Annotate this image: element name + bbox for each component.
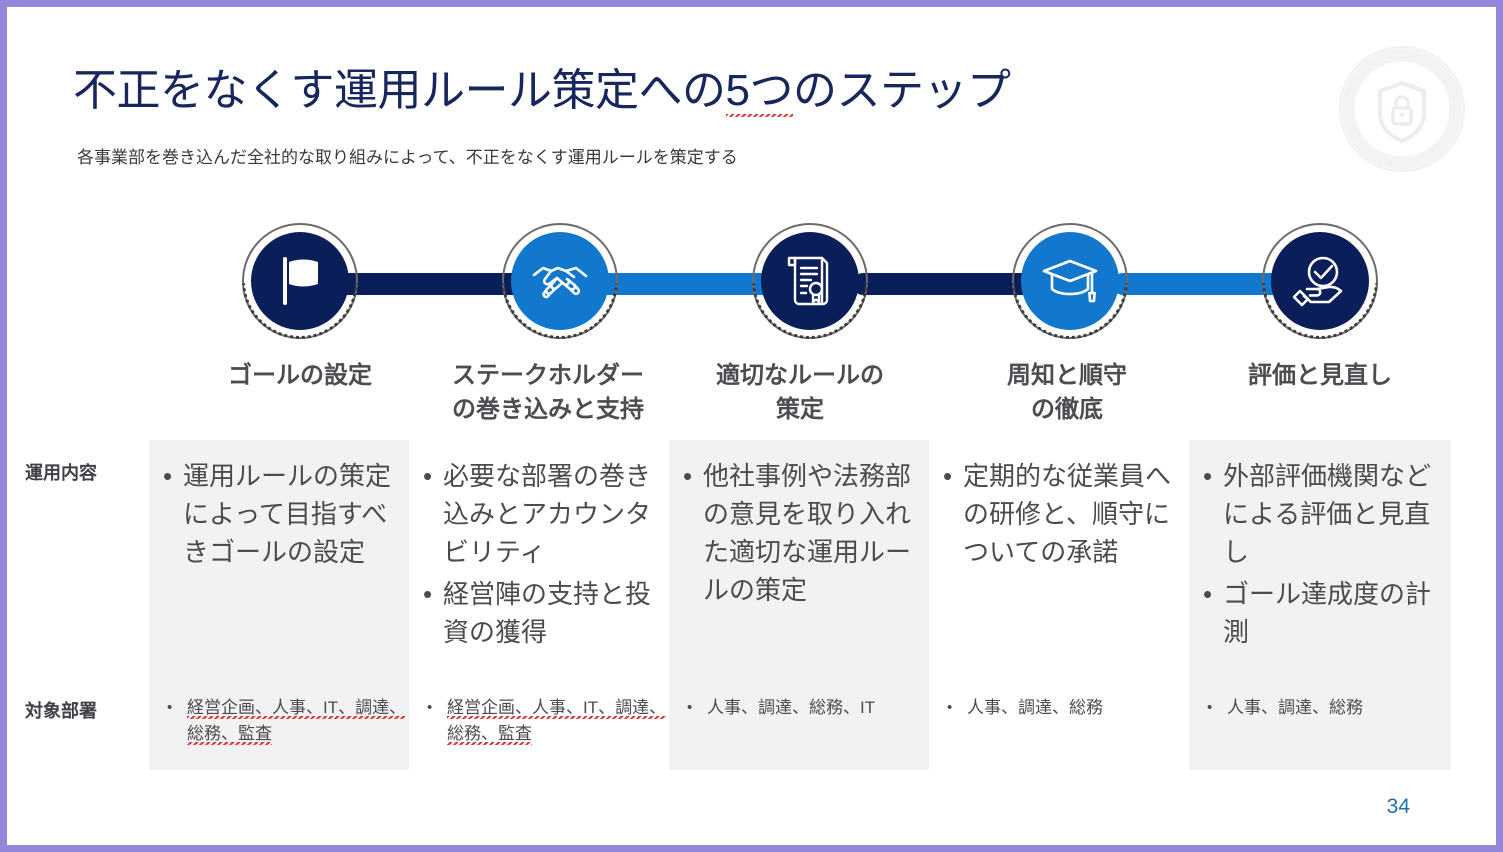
cell-bullet-list: 他社事例や法務部の意見を取り入れた適切な運用ルールの策定 (677, 457, 927, 609)
row-label-content: 運用内容 (25, 459, 143, 485)
content-table: 運用内容 対象部署 運用ルールの策定によって目指すべきゴールの設定 必要な部署の… (7, 7, 1503, 852)
table-cell-r1c1: 運用ルールの策定によって目指すべきゴールの設定 (157, 457, 407, 575)
list-item: 人事、調達、総務、IT (681, 695, 927, 721)
table-cell-r2c2: 経営企画、人事、IT、調達、総務、監査 (421, 695, 667, 747)
list-item: 必要な部署の巻き込みとアカウンタビリティ (417, 457, 667, 571)
table-cell-r1c2: 必要な部署の巻き込みとアカウンタビリティ 経営陣の支持と投資の獲得 (417, 457, 667, 655)
list-item: 人事、調達、総務 (941, 695, 1187, 721)
cell-bullet-list: 人事、調達、総務 (941, 695, 1187, 721)
cell-bullet-list: 人事、調達、総務、IT (681, 695, 927, 721)
cell-bullet-list: 必要な部署の巻き込みとアカウンタビリティ 経営陣の支持と投資の獲得 (417, 457, 667, 651)
table-cell-r1c5: 外部評価機関などによる評価と見直し ゴール達成度の計測 (1197, 457, 1449, 655)
list-item: 運用ルールの策定によって目指すべきゴールの設定 (157, 457, 407, 571)
slide-canvas: 不正をなくす運用ルール策定への5つのステップ 各事業部を巻き込んだ全社的な取り組… (0, 0, 1503, 852)
list-item: 外部評価機関などによる評価と見直し (1197, 457, 1449, 571)
row-label-departments: 対象部署 (25, 697, 143, 723)
cell-bullet-list: 経営企画、人事、IT、調達、総務、監査 (161, 695, 407, 747)
list-item-text: 経営企画、人事、IT、調達、総務、監査 (187, 698, 406, 745)
list-item: 経営企画、人事、IT、調達、総務、監査 (161, 695, 407, 747)
table-cell-r2c4: 人事、調達、総務 (941, 695, 1187, 721)
table-cell-r2c1: 経営企画、人事、IT、調達、総務、監査 (161, 695, 407, 747)
table-cell-r2c3: 人事、調達、総務、IT (681, 695, 927, 721)
cell-bullet-list: 外部評価機関などによる評価と見直し ゴール達成度の計測 (1197, 457, 1449, 651)
table-cell-r1c3: 他社事例や法務部の意見を取り入れた適切な運用ルールの策定 (677, 457, 927, 613)
list-item: ゴール達成度の計測 (1197, 575, 1449, 651)
page-number: 34 (1387, 795, 1410, 819)
cell-bullet-list: 人事、調達、総務 (1201, 695, 1449, 721)
table-cell-r2c5: 人事、調達、総務 (1201, 695, 1449, 721)
list-item: 経営陣の支持と投資の獲得 (417, 575, 667, 651)
cell-bullet-list: 運用ルールの策定によって目指すべきゴールの設定 (157, 457, 407, 571)
list-item: 定期的な従業員への研修と、順守についての承諾 (937, 457, 1187, 571)
cell-bullet-list: 経営企画、人事、IT、調達、総務、監査 (421, 695, 667, 747)
cell-bullet-list: 定期的な従業員への研修と、順守についての承諾 (937, 457, 1187, 571)
list-item-text: 経営企画、人事、IT、調達、総務、監査 (447, 698, 666, 745)
table-cell-r1c4: 定期的な従業員への研修と、順守についての承諾 (937, 457, 1187, 575)
list-item: 他社事例や法務部の意見を取り入れた適切な運用ルールの策定 (677, 457, 927, 609)
list-item: 経営企画、人事、IT、調達、総務、監査 (421, 695, 667, 747)
list-item: 人事、調達、総務 (1201, 695, 1449, 721)
